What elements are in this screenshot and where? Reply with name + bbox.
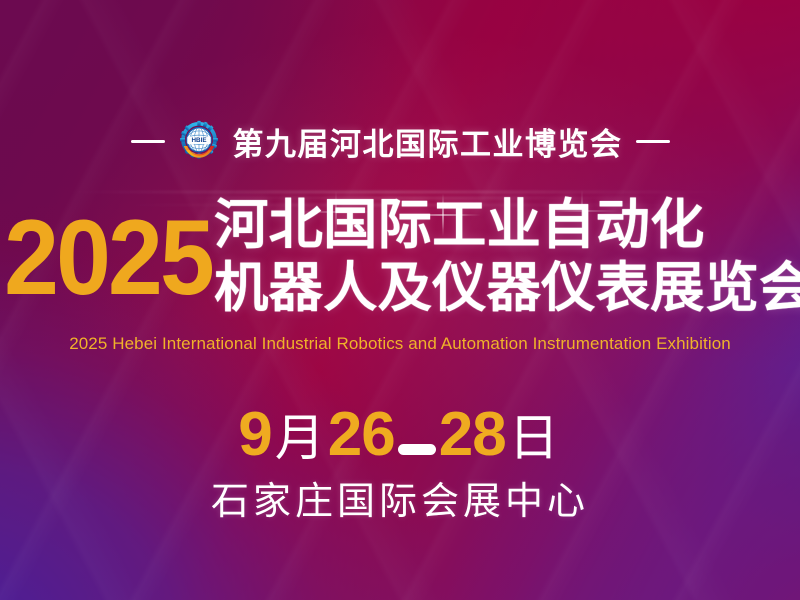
- date-day-label: 日: [509, 398, 559, 470]
- headline-line-1: 河北国际工业自动化: [214, 194, 800, 257]
- event-date: 9 月 26 28 日: [0, 398, 800, 470]
- event-venue: 石家庄国际会展中心: [0, 470, 800, 525]
- headline-line-2: 机器人及仪器仪表展览会: [214, 257, 800, 320]
- top-banner: HBIE 第九届河北国际工业博览会: [0, 118, 800, 164]
- top-banner-title: 第九届河北国际工业博览会: [233, 119, 623, 164]
- logo-text: HBIE: [191, 137, 206, 144]
- headline-chinese-lines: 河北国际工业自动化 机器人及仪器仪表展览会: [214, 194, 800, 320]
- date-month-label: 月: [275, 398, 325, 470]
- rule-right-icon: [636, 140, 670, 143]
- exhibition-poster: HBIE 第九届河北国际工业博览会 2025 河北国际工业自动化 机器人及仪器仪…: [0, 0, 800, 600]
- english-subtitle: 2025 Hebei International Industrial Robo…: [0, 334, 800, 354]
- headline-year: 2025: [4, 204, 212, 311]
- rule-left-icon: [131, 140, 165, 143]
- hbie-logo-icon: HBIE: [178, 120, 220, 162]
- date-day-end: 28: [439, 399, 506, 470]
- date-range-dash-icon: [398, 444, 436, 455]
- date-day-start: 26: [328, 399, 395, 470]
- headline-block: 2025 河北国际工业自动化 机器人及仪器仪表展览会: [0, 192, 800, 322]
- date-month-number: 9: [238, 399, 271, 470]
